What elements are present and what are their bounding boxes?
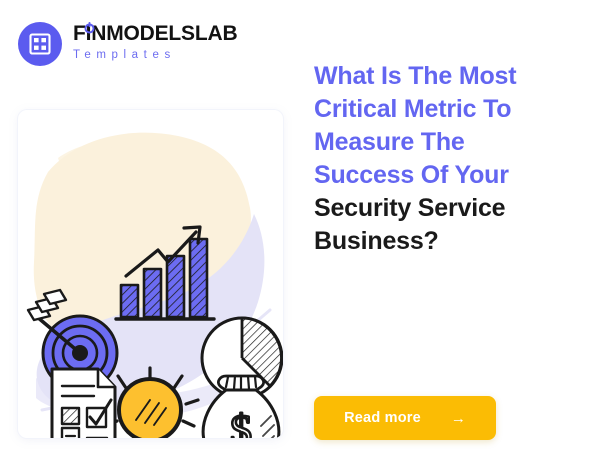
read-more-label: Read more [344,410,421,426]
page-title: What Is The Most Critical Metric To Meas… [314,60,579,258]
headline-line-6: Business? [314,227,439,255]
headline-line-3: Measure The [314,128,465,156]
read-more-button[interactable]: Read more → [314,396,496,440]
headline-line-4: Success Of Your [314,161,509,189]
business-metrics-illustration: $ [18,110,283,438]
headline-line-2: Critical Metric To [314,95,511,123]
svg-text:$: $ [230,406,252,438]
brand-subtitle: Templates [73,47,237,64]
brand-wordmark: FINMODELSLAB Templates [73,23,237,64]
grid-logo-icon [18,22,62,66]
power-o-icon [83,21,96,34]
brand-logo[interactable]: FINMODELSLAB Templates [18,22,237,66]
arrow-right-icon: → [451,411,466,426]
headline-line-1: What Is The Most [314,62,516,90]
brand-name: FINMODELSLAB [73,23,237,45]
headline-line-5: Security Service [314,194,505,222]
document-checklist-icon [52,369,115,438]
headline-block: What Is The Most Critical Metric To Meas… [314,60,579,258]
